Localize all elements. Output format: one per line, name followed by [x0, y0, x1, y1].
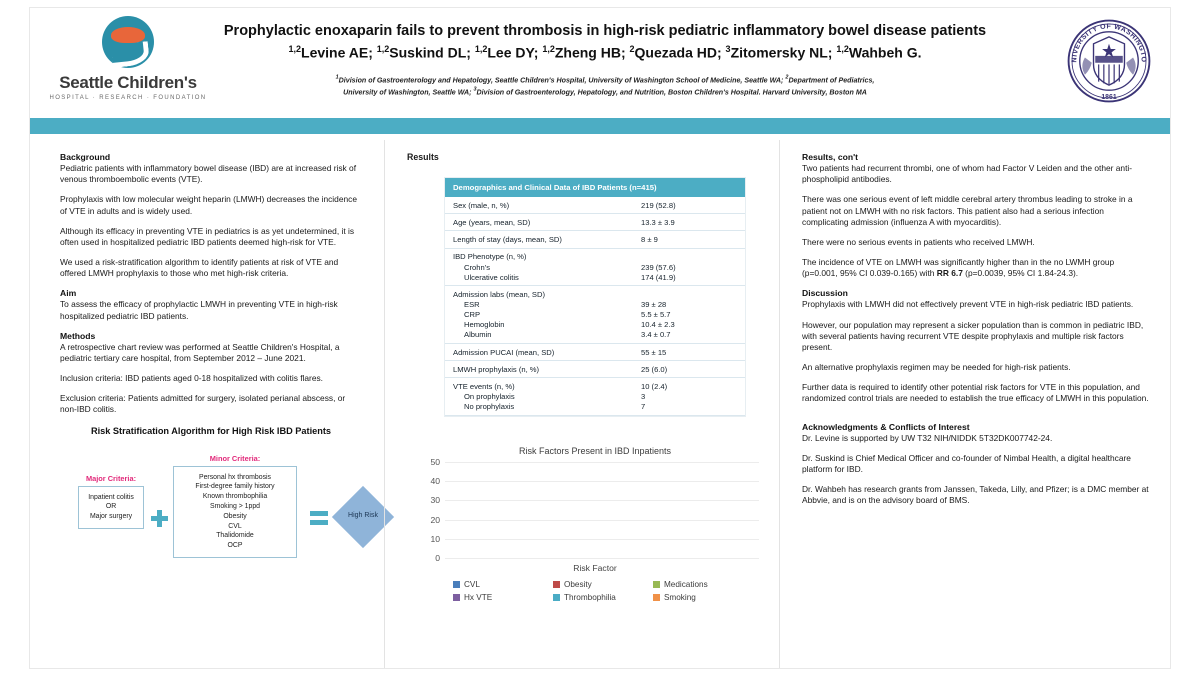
demographics-table: Demographics and Clinical Data of IBD Pa…	[445, 178, 745, 416]
algorithm-title: Risk Stratification Algorithm for High R…	[60, 426, 362, 436]
results-cont-paragraph-1: Two patients had recurrent thrombi, one …	[802, 163, 1150, 185]
table-cell-value: 8 ± 9	[633, 231, 745, 248]
table-cell-value: 55 ± 15	[633, 343, 745, 360]
major-criteria-label: Major Criteria:	[78, 474, 144, 483]
background-paragraph-2: Prophylaxis with low molecular weight he…	[60, 194, 362, 216]
table-cell-label: Length of stay (days, mean, SD)	[445, 231, 633, 248]
table-cell-value: 25 (6.0)	[633, 361, 745, 378]
results-cont-paragraph-3: There were no serious events in patients…	[802, 237, 1150, 248]
title-block: Prophylactic enoxaparin fails to prevent…	[215, 22, 995, 98]
chart-legend: CVLObesityMedicationsHx VTEThrombophilia…	[411, 580, 753, 606]
chart-plot-area: 01020304050	[445, 462, 759, 559]
discussion-paragraph-1: Prophylaxis with LMWH did not effectivel…	[802, 299, 1150, 310]
author-name-4: Zheng HB;	[555, 45, 630, 61]
chart-ytick-label: 20	[430, 515, 440, 525]
table-cell-label: Admission PUCAI (mean, SD)	[445, 343, 633, 360]
legend-swatch-icon	[653, 581, 660, 588]
chart-legend-item: CVL	[453, 580, 553, 589]
table-cell-value: 10.4 ± 2.3	[633, 320, 745, 330]
chart-bars	[445, 462, 759, 558]
legend-swatch-icon	[553, 594, 560, 601]
acknowledgments-paragraph-2: Dr. Suskind is Chief Medical Officer and…	[802, 453, 1150, 475]
table-row: VTE events (n, %)10 (2.4)	[445, 378, 745, 392]
table-row: No prophylaxis7	[445, 402, 745, 416]
acknowledgments-paragraph-3: Dr. Wahbeh has research grants from Jans…	[802, 484, 1150, 506]
table-cell-label: VTE events (n, %)	[445, 378, 633, 392]
discussion-paragraph-2: However, our population may represent a …	[802, 320, 1150, 354]
table-cell-value: 10 (2.4)	[633, 378, 745, 392]
table-cell-label: Admission labs (mean, SD)	[445, 286, 633, 300]
methods-paragraph-1: A retrospective chart review was perform…	[60, 342, 362, 364]
demographics-table-head: Demographics and Clinical Data of IBD Pa…	[445, 178, 745, 197]
table-cell-label: On prophylaxis	[445, 392, 633, 402]
background-paragraph-1: Pediatric patients with inflammatory bow…	[60, 163, 362, 185]
chart-gridline	[445, 539, 759, 540]
author-name-1: Levine AE;	[301, 45, 377, 61]
affiliation-line-2b: Division of Gastroenterology, Hepatology…	[477, 88, 867, 96]
chart-title: Risk Factors Present in IBD Inpatients	[411, 446, 779, 456]
table-row: ESR39 ± 28	[445, 300, 745, 310]
legend-label: Obesity	[564, 580, 592, 589]
legend-label: Smoking	[664, 593, 696, 602]
chart-gridline	[445, 462, 759, 463]
legend-swatch-icon	[653, 594, 660, 601]
table-cell-label: Ulcerative colitis	[445, 272, 633, 286]
background-heading: Background	[60, 152, 362, 162]
chart-gridline	[445, 500, 759, 501]
table-cell-label: LMWH prophylaxis (n, %)	[445, 361, 633, 378]
chart-legend-item: Hx VTE	[453, 593, 553, 602]
risk-stratification-diagram: Major Criteria: Inpatient colitis OR Maj…	[60, 448, 362, 568]
major-criteria-group: Major Criteria: Inpatient colitis OR Maj…	[78, 474, 144, 529]
seattle-childrens-logo-tagline: HOSPITAL · RESEARCH · FOUNDATION	[48, 95, 208, 101]
demographics-table-title: Demographics and Clinical Data of IBD Pa…	[445, 178, 745, 197]
table-cell-value	[633, 286, 745, 300]
table-row: On prophylaxis3	[445, 392, 745, 402]
results-cont-heading: Results, con't	[802, 152, 1150, 162]
table-cell-value	[633, 248, 745, 262]
uw-seal-year: 1861	[1101, 94, 1116, 101]
minor-criteria-label: Minor Criteria:	[173, 454, 297, 463]
chart-ytick-label: 50	[430, 457, 440, 467]
author-name-3: Lee DY;	[487, 45, 542, 61]
header-accent-bar	[30, 118, 1170, 134]
relative-risk-value: RR 6.7	[937, 268, 963, 278]
table-row: IBD Phenotype (n, %)	[445, 248, 745, 262]
minor-criteria-box: Personal hx thrombosis First-degree fami…	[173, 466, 297, 558]
author-name-5: Quezada HD;	[635, 45, 726, 61]
affiliation-line-1: Division of Gastroenterology and Hepatol…	[339, 76, 784, 84]
table-row: Sex (male, n, %)219 (52.8)	[445, 197, 745, 214]
table-cell-value: 239 (57.6)	[633, 262, 745, 272]
table-cell-value: 13.3 ± 3.9	[633, 214, 745, 231]
results-p4-part-b: (p=0.0039, 95% CI 1.84-24.3).	[963, 268, 1078, 278]
table-row: CRP5.5 ± 5.7	[445, 310, 745, 320]
table-row: Albumin3.4 ± 0.7	[445, 330, 745, 344]
table-cell-value: 3	[633, 392, 745, 402]
results-cont-paragraph-4: The incidence of VTE on LMWH was signifi…	[802, 257, 1150, 279]
table-cell-label: CRP	[445, 310, 633, 320]
chart-gridline	[445, 520, 759, 521]
legend-swatch-icon	[453, 581, 460, 588]
discussion-heading: Discussion	[802, 288, 1150, 298]
poster-canvas: Seattle Children's HOSPITAL · RESEARCH ·…	[30, 8, 1170, 668]
plus-icon	[151, 510, 168, 527]
results-heading: Results	[407, 152, 761, 162]
author-affiliation-sup-7: 1,2	[836, 44, 849, 54]
chart-legend-item: Obesity	[553, 580, 653, 589]
table-row: Age (years, mean, SD)13.3 ± 3.9	[445, 214, 745, 231]
table-row: Length of stay (days, mean, SD)8 ± 9	[445, 231, 745, 248]
table-header-row: Demographics and Clinical Data of IBD Pa…	[445, 178, 745, 197]
legend-label: CVL	[464, 580, 480, 589]
results-cont-paragraph-2: There was one serious event of left midd…	[802, 194, 1150, 228]
chart-ytick-label: 40	[430, 476, 440, 486]
author-affiliations: 1Division of Gastroenterology and Hepato…	[215, 74, 995, 99]
seattle-childrens-mark-icon	[102, 16, 154, 68]
author-affiliation-sup-4: 1,2	[542, 44, 555, 54]
table-row: Crohn’s239 (57.6)	[445, 262, 745, 272]
table-row: LMWH prophylaxis (n, %)25 (6.0)	[445, 361, 745, 378]
discussion-paragraph-4: Further data is required to identify oth…	[802, 382, 1150, 404]
affiliation-line-2: University of Washington, Seattle WA;	[343, 88, 471, 96]
methods-heading: Methods	[60, 331, 362, 341]
table-cell-value: 39 ± 28	[633, 300, 745, 310]
table-cell-label: No prophylaxis	[445, 402, 633, 416]
demographics-table-body: Sex (male, n, %)219 (52.8)Age (years, me…	[445, 197, 745, 416]
author-affiliation-sup-1: 1,2	[289, 44, 302, 54]
seattle-childrens-logo-name: Seattle Children's	[48, 73, 208, 93]
uw-seal-icon: UNIVERSITY OF WASHINGTON 1861	[1066, 18, 1152, 104]
legend-swatch-icon	[453, 594, 460, 601]
aim-paragraph-1: To assess the efficacy of prophylactic L…	[60, 299, 362, 321]
acknowledgments-paragraph-1: Dr. Levine is supported by UW T32 NIH/NI…	[802, 433, 1150, 444]
author-name-7: Wahbeh G.	[849, 45, 922, 61]
chart-ytick-label: 0	[435, 553, 440, 563]
author-name-2: Suskind DL;	[389, 45, 475, 61]
table-cell-value: 219 (52.8)	[633, 197, 745, 214]
background-paragraph-3: Although its efficacy in preventing VTE …	[60, 226, 362, 248]
table-cell-value: 7	[633, 402, 745, 416]
poster-body: Background Pediatric patients with infla…	[30, 134, 1170, 668]
methods-paragraph-2: Inclusion criteria: IBD patients aged 0-…	[60, 373, 362, 384]
chart-gridline	[445, 558, 759, 559]
methods-paragraph-3: Exclusion criteria: Patients admitted fo…	[60, 393, 362, 415]
chart-legend-item: Medications	[653, 580, 753, 589]
seattle-childrens-logo: Seattle Children's HOSPITAL · RESEARCH ·…	[48, 16, 208, 101]
table-cell-label: Sex (male, n, %)	[445, 197, 633, 214]
table-cell-label: Hemoglobin	[445, 320, 633, 330]
risk-factors-chart: Risk Factors Present in IBD Inpatients 0…	[411, 446, 779, 608]
table-cell-label: Crohn’s	[445, 262, 633, 272]
background-paragraph-4: We used a risk-stratification algorithm …	[60, 257, 362, 279]
column-middle: Results Demographics and Clinical Data o…	[384, 140, 779, 668]
legend-label: Hx VTE	[464, 593, 492, 602]
legend-swatch-icon	[553, 581, 560, 588]
author-affiliation-sup-3: 1,2	[475, 44, 488, 54]
affiliation-line-1b: Department of Pediatrics,	[788, 76, 874, 84]
author-name-6: Zitomersky NL;	[731, 45, 837, 61]
column-left: Background Pediatric patients with infla…	[30, 140, 384, 668]
legend-label: Medications	[664, 580, 708, 589]
minor-criteria-group: Minor Criteria: Personal hx thrombosis F…	[173, 454, 297, 558]
chart-ytick-label: 30	[430, 495, 440, 505]
table-row: Admission PUCAI (mean, SD)55 ± 15	[445, 343, 745, 360]
acknowledgments-heading: Acknowledgments & Conflicts of Interest	[802, 422, 1150, 432]
uw-seal-logo: UNIVERSITY OF WASHINGTON 1861	[1066, 18, 1152, 104]
table-row: Hemoglobin10.4 ± 2.3	[445, 320, 745, 330]
section-spacer	[802, 414, 1150, 422]
table-cell-value: 3.4 ± 0.7	[633, 330, 745, 344]
table-cell-value: 5.5 ± 5.7	[633, 310, 745, 320]
poster-title: Prophylactic enoxaparin fails to prevent…	[215, 22, 995, 40]
chart-gridline	[445, 481, 759, 482]
aim-heading: Aim	[60, 288, 362, 298]
major-criteria-box: Inpatient colitis OR Major surgery	[78, 486, 144, 529]
discussion-paragraph-3: An alternative prophylaxis regimen may b…	[802, 362, 1150, 373]
legend-label: Thrombophilia	[564, 593, 616, 602]
table-cell-label: ESR	[445, 300, 633, 310]
table-cell-value: 174 (41.9)	[633, 272, 745, 286]
chart-legend-item: Thrombophilia	[553, 593, 653, 602]
poster-header: Seattle Children's HOSPITAL · RESEARCH ·…	[30, 8, 1170, 118]
table-cell-label: IBD Phenotype (n, %)	[445, 248, 633, 262]
poster-authors: 1,2Levine AE; 1,2Suskind DL; 1,2Lee DY; …	[215, 44, 995, 61]
chart-xaxis-label: Risk Factor	[411, 563, 779, 573]
table-cell-label: Age (years, mean, SD)	[445, 214, 633, 231]
author-affiliation-sup-2: 1,2	[377, 44, 390, 54]
chart-ytick-label: 10	[430, 534, 440, 544]
chart-legend-item: Smoking	[653, 593, 753, 602]
column-right: Results, con't Two patients had recurren…	[779, 140, 1170, 668]
table-row: Ulcerative colitis174 (41.9)	[445, 272, 745, 286]
table-cell-label: Albumin	[445, 330, 633, 344]
table-row: Admission labs (mean, SD)	[445, 286, 745, 300]
equals-icon	[310, 511, 328, 529]
